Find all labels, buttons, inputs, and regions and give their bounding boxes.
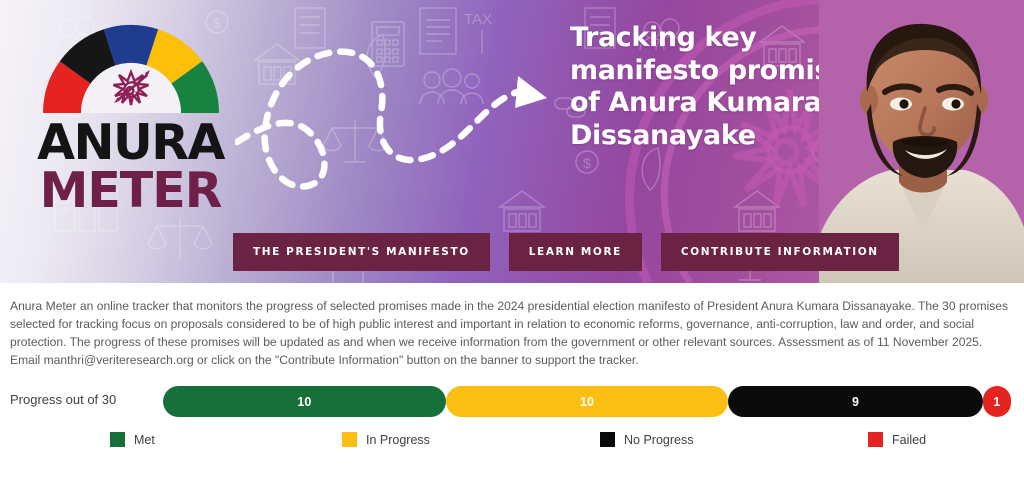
legend-label: No Progress <box>624 433 693 447</box>
progress-segment-value: 10 <box>580 395 594 409</box>
legend-swatch-icon <box>868 432 883 447</box>
banner-button-row: The President's Manifesto Learn More Con… <box>233 233 899 271</box>
presidents-manifesto-button[interactable]: The President's Manifesto <box>233 233 490 271</box>
stacked-progress-bar: 101091 <box>163 386 1011 417</box>
progress-segment-value: 10 <box>297 395 311 409</box>
progress-label: Progress out of 30 <box>10 392 116 407</box>
intro-paragraph: Anura Meter an online tracker that monit… <box>10 297 1014 369</box>
legend-label: Met <box>134 433 155 447</box>
gauge-logo-icon <box>36 18 226 118</box>
legend-swatch-icon <box>110 432 125 447</box>
legend-item-failed[interactable]: Failed <box>868 432 926 447</box>
progress-segment-value: 1 <box>993 395 1000 409</box>
legend-swatch-icon <box>342 432 357 447</box>
contribute-information-button[interactable]: Contribute Information <box>661 233 899 271</box>
learn-more-button[interactable]: Learn More <box>509 233 642 271</box>
progress-segment-failed[interactable]: 1 <box>983 386 1011 417</box>
progress-segment-met[interactable]: 10 <box>163 386 446 417</box>
page-root: TAX <box>0 0 1024 489</box>
legend-item-in-progress[interactable]: In Progress <box>342 432 430 447</box>
legend-label: Failed <box>892 433 926 447</box>
status-legend: MetIn ProgressNo ProgressFailed <box>0 432 1024 454</box>
dashed-arrow-icon <box>235 20 575 195</box>
progress-bar-section: Progress out of 30 101091 <box>0 386 1024 418</box>
progress-segment-value: 9 <box>852 395 859 409</box>
legend-swatch-icon <box>600 432 615 447</box>
legend-item-met[interactable]: Met <box>110 432 155 447</box>
legend-label: In Progress <box>366 433 430 447</box>
progress-segment-in-progress[interactable]: 10 <box>446 386 729 417</box>
progress-segment-no-progress[interactable]: 9 <box>728 386 982 417</box>
anura-meter-logo[interactable]: ANURA METER <box>28 18 233 228</box>
legend-item-no-progress[interactable]: No Progress <box>600 432 693 447</box>
hero-banner: TAX <box>0 0 1024 283</box>
logo-text-meter: METER <box>40 167 222 214</box>
logo-text-anura: ANURA <box>37 120 224 165</box>
